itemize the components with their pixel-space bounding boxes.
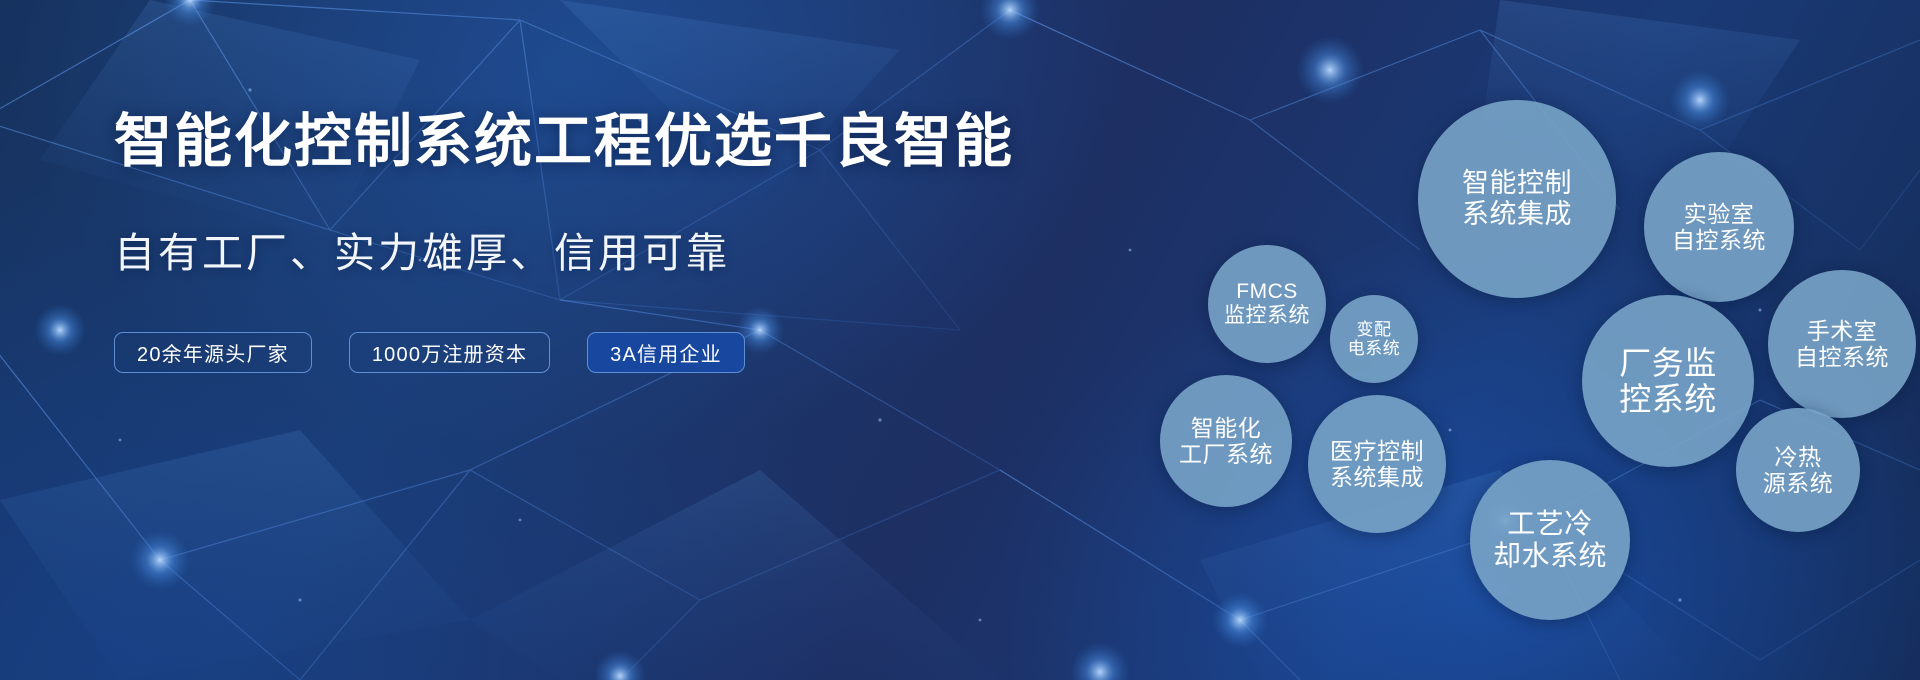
bubble-label-line: 变配 bbox=[1357, 320, 1392, 339]
bubble-label-line: 自控系统 bbox=[1795, 344, 1889, 370]
bubble-label-line: 智能化 bbox=[1191, 415, 1262, 441]
bubble-label-line: 实验室 bbox=[1684, 201, 1755, 227]
bubble-intelligent-control-system-integration[interactable]: 智能控制系统集成 bbox=[1418, 100, 1616, 298]
bubble-label-line: 电系统 bbox=[1348, 339, 1401, 358]
badge-years-manufacturer[interactable]: 20余年源头厂家 bbox=[114, 332, 312, 373]
bubble-label-line: 自控系统 bbox=[1672, 227, 1766, 253]
bubble-label-line: 控系统 bbox=[1619, 381, 1717, 417]
bubble-plant-facility-monitoring-system[interactable]: 厂务监控系统 bbox=[1582, 295, 1754, 467]
bubble-medical-control-system-integration[interactable]: 医疗控制系统集成 bbox=[1308, 395, 1446, 533]
service-bubble-cluster: 智能控制系统集成实验室自控系统手术室自控系统FMCS监控系统变配电系统厂务监控系… bbox=[1150, 40, 1920, 680]
hero-text-block: 智能化控制系统工程优选千良智能 自有工厂、实力雄厚、信用可靠 20余年源头厂家 … bbox=[114, 110, 934, 373]
bubble-label-line: 手术室 bbox=[1807, 318, 1878, 344]
bubble-label-line: 却水系统 bbox=[1493, 540, 1607, 572]
badge-row: 20余年源头厂家 1000万注册资本 3A信用企业 bbox=[114, 332, 934, 373]
bubble-label-line: 智能控制 bbox=[1462, 168, 1572, 199]
bubble-label-line: 工厂系统 bbox=[1179, 441, 1273, 467]
bubble-label-line: 厂务监 bbox=[1619, 345, 1717, 381]
bubble-label-line: 系统集成 bbox=[1330, 464, 1424, 490]
bubble-label-line: 工艺冷 bbox=[1507, 508, 1593, 540]
bubble-lab-automation-system[interactable]: 实验室自控系统 bbox=[1644, 152, 1794, 302]
hero-subtitle: 自有工厂、实力雄厚、信用可靠 bbox=[114, 229, 934, 278]
bubble-label-line: 冷热 bbox=[1775, 444, 1822, 470]
bubble-power-distribution-system[interactable]: 变配电系统 bbox=[1330, 295, 1418, 383]
bubble-label-line: 系统集成 bbox=[1462, 199, 1572, 230]
bubble-label-line: 医疗控制 bbox=[1330, 438, 1424, 464]
bubble-cold-heat-source-system[interactable]: 冷热源系统 bbox=[1736, 408, 1860, 532]
badge-3a-credit-enterprise[interactable]: 3A信用企业 bbox=[587, 332, 745, 373]
bubble-process-cooling-water-system[interactable]: 工艺冷却水系统 bbox=[1470, 460, 1630, 620]
bubble-intelligent-factory-system[interactable]: 智能化工厂系统 bbox=[1160, 375, 1292, 507]
page-title: 智能化控制系统工程优选千良智能 bbox=[114, 110, 934, 175]
bubble-fmcs-monitoring-system[interactable]: FMCS监控系统 bbox=[1208, 245, 1326, 363]
hero-banner: 智能化控制系统工程优选千良智能 自有工厂、实力雄厚、信用可靠 20余年源头厂家 … bbox=[0, 0, 1920, 680]
bubble-label-line: 监控系统 bbox=[1224, 304, 1310, 328]
bubble-operating-room-automation-system[interactable]: 手术室自控系统 bbox=[1768, 270, 1916, 418]
bubble-label-line: FMCS bbox=[1236, 280, 1298, 304]
badge-registered-capital[interactable]: 1000万注册资本 bbox=[349, 332, 550, 373]
bubble-label-line: 源系统 bbox=[1763, 470, 1834, 496]
